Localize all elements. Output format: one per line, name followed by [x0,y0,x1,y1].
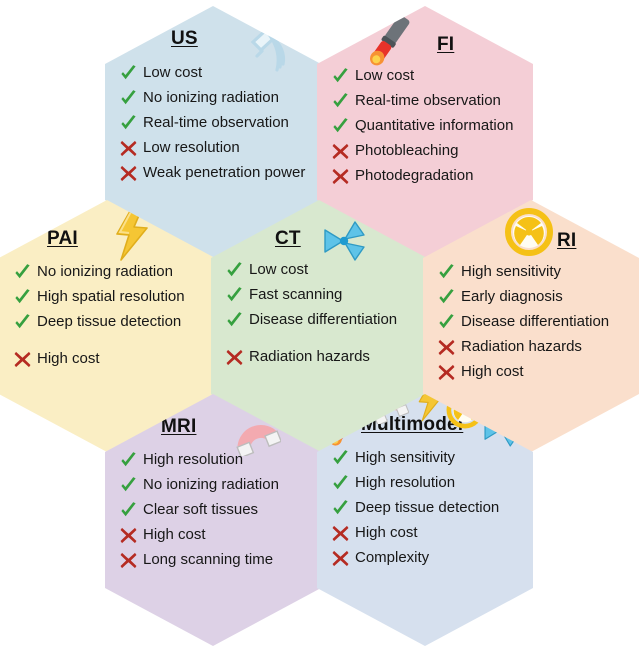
feature-item: High resolution [119,448,321,472]
feature-item: High cost [437,360,639,384]
feature-item: High resolution [331,471,533,495]
check-mark-icon [331,474,350,493]
feature-item-label: Clear soft tissues [143,502,258,518]
feature-item-label: Deep tissue detection [37,314,181,330]
feature-item-label: High spatial resolution [37,289,185,305]
cross-mark-icon [437,338,456,357]
feature-item-label: Quantitative information [355,118,513,134]
hex-title-pai: PAI [47,228,78,250]
hex-title-ct: CT [275,228,301,250]
feature-item: High cost [119,523,321,547]
feature-item-label: High resolution [355,475,455,491]
hexagon-diagram-canvas: US Low costNo ionizing radiationReal-tim… [0,0,639,592]
feature-item: Disease differentiation [225,308,427,332]
cross-mark-icon [119,526,138,545]
feature-item: Early diagnosis [437,285,639,309]
feature-item: Disease differentiation [437,310,639,334]
feature-item: Real-time observation [119,111,321,135]
hex-item-list-pai: No ionizing radiationHigh spatial resolu… [13,260,215,372]
hex-item-list-us: Low costNo ionizing radiationReal-time o… [119,61,321,186]
feature-item-label: Real-time observation [143,115,289,131]
feature-item-label: Radiation hazards [249,349,370,365]
feature-item: High cost [331,521,533,545]
feature-item-label: Low cost [143,65,202,81]
feature-item-label: Deep tissue detection [355,500,499,516]
feature-item-label: High cost [355,525,418,541]
feature-item: High sensitivity [437,260,639,284]
feature-item: Fast scanning [225,283,427,307]
feature-item-label: Photodegradation [355,168,473,184]
cross-mark-icon [331,549,350,568]
hex-title-us: US [171,28,198,50]
feature-item-label: High cost [143,527,206,543]
feature-item-label: Disease differentiation [249,312,397,328]
feature-item-label: Fast scanning [249,287,342,303]
check-mark-icon [13,313,32,332]
feature-item: Deep tissue detection [331,496,533,520]
feature-item: No ionizing radiation [119,86,321,110]
check-mark-icon [13,288,32,307]
cross-mark-icon [331,167,350,186]
radiation-yellow-icon [503,206,555,258]
feature-item: Low resolution [119,136,321,160]
check-mark-icon [225,261,244,280]
hex-title-fi: FI [437,34,454,56]
check-mark-icon [437,263,456,282]
check-mark-icon [119,114,138,133]
check-mark-icon [13,263,32,282]
feature-item-label: Low cost [249,262,308,278]
cross-mark-icon [225,348,244,367]
feature-item: Photobleaching [331,139,533,163]
feature-item-label: Photobleaching [355,143,458,159]
check-mark-icon [437,313,456,332]
check-mark-icon [119,89,138,108]
check-mark-icon [119,476,138,495]
check-mark-icon [331,117,350,136]
cross-mark-icon [119,139,138,158]
check-mark-icon [225,311,244,330]
hex-item-list-fi: Low costReal-time observationQuantitativ… [331,64,533,189]
feature-item-label: Long scanning time [143,552,273,568]
hex-item-list-ct: Low costFast scanningDisease differentia… [225,258,427,370]
feature-item: Clear soft tissues [119,498,321,522]
feature-item: Deep tissue detection [13,310,215,334]
hex-title-ri: RI [557,230,576,252]
check-mark-icon [119,451,138,470]
feature-item: Complexity [331,546,533,570]
cross-mark-icon [13,350,32,369]
feature-item-label: High cost [461,364,524,380]
cross-mark-icon [331,524,350,543]
feature-item-label: High cost [37,351,100,367]
cross-mark-icon [437,363,456,382]
hex-item-list-mri: High resolutionNo ionizing radiationClea… [119,448,321,573]
feature-item-label: High sensitivity [355,450,455,466]
check-mark-icon [331,499,350,518]
fluorescence-probe-icon [355,8,421,72]
feature-item: High spatial resolution [13,285,215,309]
feature-item-label: Radiation hazards [461,339,582,355]
feature-item: Real-time observation [331,89,533,113]
feature-item: Weak penetration power [119,161,321,185]
check-mark-icon [331,67,350,86]
feature-item: Radiation hazards [437,335,639,359]
feature-item-label: Weak penetration power [143,165,305,181]
feature-item: Quantitative information [331,114,533,138]
check-mark-icon [225,286,244,305]
check-mark-icon [119,501,138,520]
hex-item-list-multimodel: High sensitivityHigh resolutionDeep tiss… [331,446,533,571]
feature-item: High cost [13,347,215,371]
feature-item: Photodegradation [331,164,533,188]
feature-item: No ionizing radiation [119,473,321,497]
cross-mark-icon [119,551,138,570]
feature-item-label: No ionizing radiation [143,477,279,493]
feature-item-label: No ionizing radiation [143,90,279,106]
feature-item-label: High sensitivity [461,264,561,280]
feature-item-label: Low resolution [143,140,240,156]
ultrasound-probe-icon [233,14,299,76]
feature-item-label: Early diagnosis [461,289,563,305]
feature-item-label: No ionizing radiation [37,264,173,280]
check-mark-icon [437,288,456,307]
feature-item-label: Complexity [355,550,429,566]
cross-mark-icon [331,142,350,161]
radiation-blue-icon [319,218,369,264]
hex-title-mri: MRI [161,416,196,438]
check-mark-icon [119,64,138,83]
cross-mark-icon [119,164,138,183]
feature-item: Long scanning time [119,548,321,572]
hex-item-list-ri: High sensitivityEarly diagnosisDisease d… [437,260,639,385]
feature-item-label: Disease differentiation [461,314,609,330]
feature-item: Radiation hazards [225,345,427,369]
check-mark-icon [331,92,350,111]
feature-item-label: Real-time observation [355,93,501,109]
